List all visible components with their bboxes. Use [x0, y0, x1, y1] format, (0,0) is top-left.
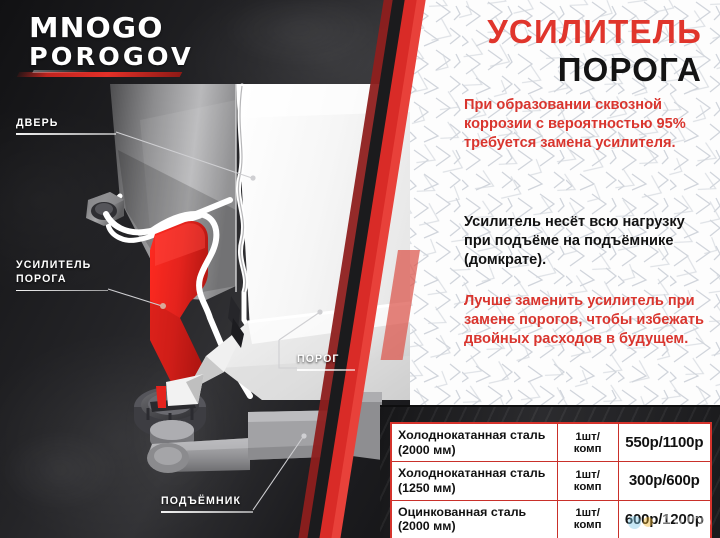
page-title: УСИЛИТЕЛЬ ПОРОГА: [487, 14, 702, 87]
callout-reinforcement: УСИЛИТЕЛЬ ПОРОГА: [16, 258, 108, 291]
page-title-line1: УСИЛИТЕЛЬ: [487, 14, 702, 50]
table-cell-price: 550р/1100р: [618, 424, 710, 462]
avito-watermark-text: Avito: [658, 510, 712, 534]
product-name-line1: Холоднокатанная сталь: [398, 428, 545, 442]
logo-underline-highlight: [32, 70, 94, 73]
callout-sill-rule: [297, 369, 355, 371]
table-cell-qty: 1шт/комп: [557, 500, 618, 538]
info-paragraph-1: При образовании сквозной коррозии с веро…: [464, 96, 714, 152]
table-cell-name: Холоднокатанная сталь (2000 мм): [392, 424, 557, 462]
brand-logo[interactable]: MNOGO POROGOV: [29, 14, 199, 69]
info-paragraph-3: Лучше заменить усилитель при замене поро…: [464, 292, 714, 348]
table-cell-qty: 1шт/комп: [557, 424, 618, 462]
callout-reinforcement-label-line1: УСИЛИТЕЛЬ: [16, 258, 108, 272]
callout-sill-label: ПОРОГ: [297, 352, 355, 366]
product-name-line2: (2000 мм): [398, 443, 456, 457]
table-cell-price: 300р/600р: [618, 462, 710, 500]
table-row: Холоднокатанная сталь (2000 мм) 1шт/комп…: [392, 424, 710, 462]
avito-logo-icon: [628, 516, 653, 529]
poster-canvas: MNOGO POROGOV УСИЛИТЕЛЬ ПОРОГА При образ…: [0, 0, 720, 538]
callout-reinforcement-rule: [16, 290, 108, 292]
callout-door: ДВЕРЬ: [16, 116, 116, 135]
table-cell-name: Холоднокатанная сталь (1250 мм): [392, 462, 557, 500]
table-cell-qty: 1шт/комп: [557, 462, 618, 500]
callout-lift: ПОДЪЁМНИК: [161, 494, 253, 513]
avito-watermark: Avito: [628, 510, 712, 534]
table-cell-name: Оцинкованная сталь (2000 мм): [392, 500, 557, 538]
callout-reinforcement-label-line2: ПОРОГА: [16, 272, 108, 286]
table-row: Холоднокатанная сталь (1250 мм) 1шт/комп…: [392, 462, 710, 500]
info-paragraph-2: Усилитель несёт всю нагрузку при подъёме…: [464, 213, 714, 269]
carbon-band-top-edge: [380, 405, 720, 407]
callout-door-rule: [16, 133, 116, 135]
brand-logo-line1: MNOGO: [29, 14, 209, 42]
callout-lift-rule: [161, 511, 253, 513]
brand-logo-line2: POROGOV: [29, 44, 202, 69]
product-name-line2: (1250 мм): [398, 481, 456, 495]
product-name-line2: (2000 мм): [398, 519, 456, 533]
callout-sill: ПОРОГ: [297, 352, 355, 371]
callout-lift-label: ПОДЪЁМНИК: [161, 494, 253, 508]
product-name-line1: Оцинкованная сталь: [398, 505, 526, 519]
product-name-line1: Холоднокатанная сталь: [398, 466, 545, 480]
page-title-line2: ПОРОГА: [487, 52, 702, 88]
callout-door-label: ДВЕРЬ: [16, 116, 116, 130]
